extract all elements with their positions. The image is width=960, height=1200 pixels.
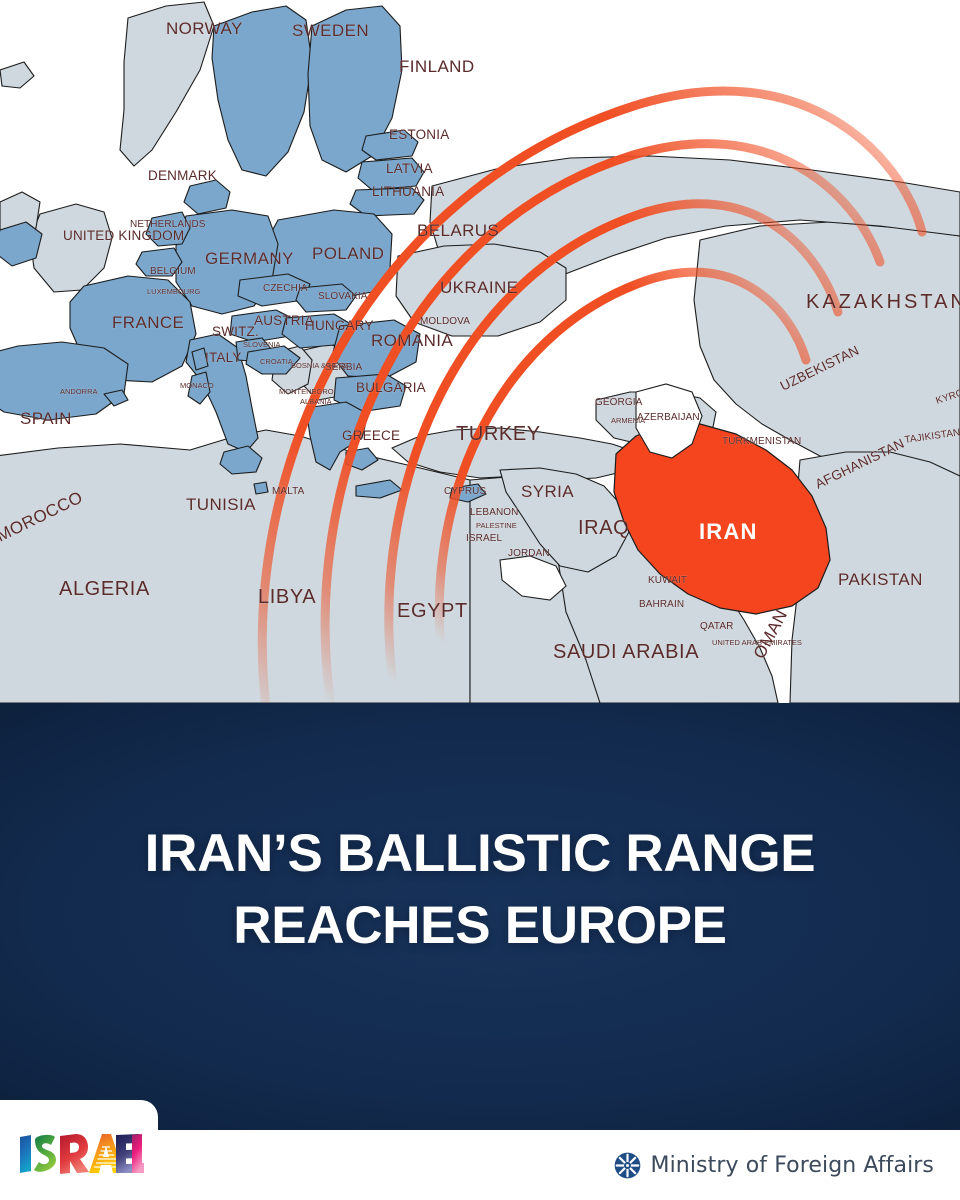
map-label-cyprus: CYPRUS [444, 486, 487, 497]
map-label-united-kingdom: UNITED KINGDOM [63, 228, 184, 243]
map-label-jordan: JORDAN [508, 548, 550, 559]
map-label-pakistan: PAKISTAN [838, 570, 923, 589]
map-label-turkmenistan: TURKMENISTAN [722, 436, 801, 447]
map-label-hungary: HUNGARY [305, 318, 374, 333]
map-label-germany: GERMANY [205, 249, 294, 268]
israel-brand-logo: ISRAEL [18, 1134, 144, 1176]
map-label-iran: IRAN [699, 519, 758, 544]
map-label-belgium: BELGIUM [150, 266, 196, 277]
map-label-bulgaria: BULGARIA [356, 380, 426, 395]
ministry-label: Ministry of Foreign Affairs [651, 1153, 935, 1178]
map-label-turkey: TURKEY [456, 423, 541, 445]
map-label-greece: GREECE [342, 428, 400, 443]
map-label-finland: FINLAND [399, 57, 475, 76]
map-label-lebanon: LEBANON [470, 507, 519, 518]
map-label-denmark: DENMARK [148, 168, 217, 183]
map-label-slovenia: SLOVENIA [243, 340, 281, 349]
map-label-romania: ROMANIA [371, 331, 453, 350]
map-label-bahrain: BAHRAIN [639, 599, 684, 610]
map-label-ukraine: UKRAINE [440, 278, 518, 297]
map-label-spain: SPAIN [20, 409, 72, 428]
map-label-georgia: GEORGIA [595, 397, 643, 408]
map-label-italy: ITALY [205, 350, 242, 365]
map-label-malta: MALTA [272, 486, 305, 497]
map-label-poland: POLAND [312, 244, 384, 263]
map-label-albania: ALBANIA [300, 397, 332, 406]
map-label-algeria: ALGERIA [59, 578, 150, 600]
map-label-qatar: QATAR [700, 621, 733, 632]
map-label-sweden: SWEDEN [292, 21, 369, 40]
map-label-croatia: CROATIA [260, 357, 293, 366]
map-label-kuwait: KUWAIT [648, 575, 687, 586]
map-label-france: FRANCE [112, 313, 184, 332]
map-label-latvia: LATVIA [386, 161, 433, 176]
map-label-egypt: EGYPT [397, 600, 468, 622]
range-map: NORWAYSWEDENFINLANDESTONIALATVIALITHUANI… [0, 0, 960, 703]
map-panel: NORWAYSWEDENFINLANDESTONIALATVIALITHUANI… [0, 0, 960, 703]
headline-line-1: IRAN’S BALLISTIC RANGE [0, 818, 960, 890]
infographic-poster: NORWAYSWEDENFINLANDESTONIALATVIALITHUANI… [0, 0, 960, 1200]
map-label-monaco: MONACO [180, 381, 214, 390]
map-label-libya: LIBYA [258, 586, 316, 608]
map-label-estonia: ESTONIA [389, 127, 449, 142]
map-label-palestine: PALESTINE [476, 521, 517, 530]
israel-logo-panel: ISRAEL [0, 1100, 158, 1200]
map-label-norway: NORWAY [166, 19, 243, 38]
mfa-emblem-icon [614, 1152, 641, 1179]
map-label-czechia: CZECHIA [263, 283, 308, 294]
map-label-syria: SYRIA [521, 482, 574, 501]
ministry-lockup: Ministry of Foreign Affairs [614, 1144, 935, 1186]
map-label-andorra: ANDORRA [60, 387, 98, 396]
map-label-saudi-arabia: SAUDI ARABIA [553, 641, 699, 663]
map-label-kazakhstan: KAZAKHSTAN [806, 291, 960, 313]
headline-line-2: REACHES EUROPE [0, 890, 960, 962]
map-label-moldova: MOLDOVA [420, 316, 470, 327]
map-label-montenegro: MONTENEGRO [279, 387, 334, 396]
map-label-tunisia: TUNISIA [186, 495, 256, 514]
map-label-azerbaijan: AZERBAIJAN [637, 412, 700, 423]
map-label-belarus: BELARUS [417, 221, 499, 240]
map-label-serbia: SERBIA [325, 362, 363, 373]
map-label-luxembourg: LUXEMBOURG [147, 287, 201, 296]
map-label-slovakia: SLOVAKIA [318, 291, 368, 302]
map-label-switz: SWITZ. [212, 324, 259, 339]
map-label-iraq: IRAQ [578, 517, 629, 539]
page-title: IRAN’S BALLISTIC RANGE REACHES EUROPE [0, 818, 960, 962]
map-label-lithuania: LITHUANIA [372, 184, 444, 199]
map-label-israel: ISRAEL [466, 533, 503, 544]
